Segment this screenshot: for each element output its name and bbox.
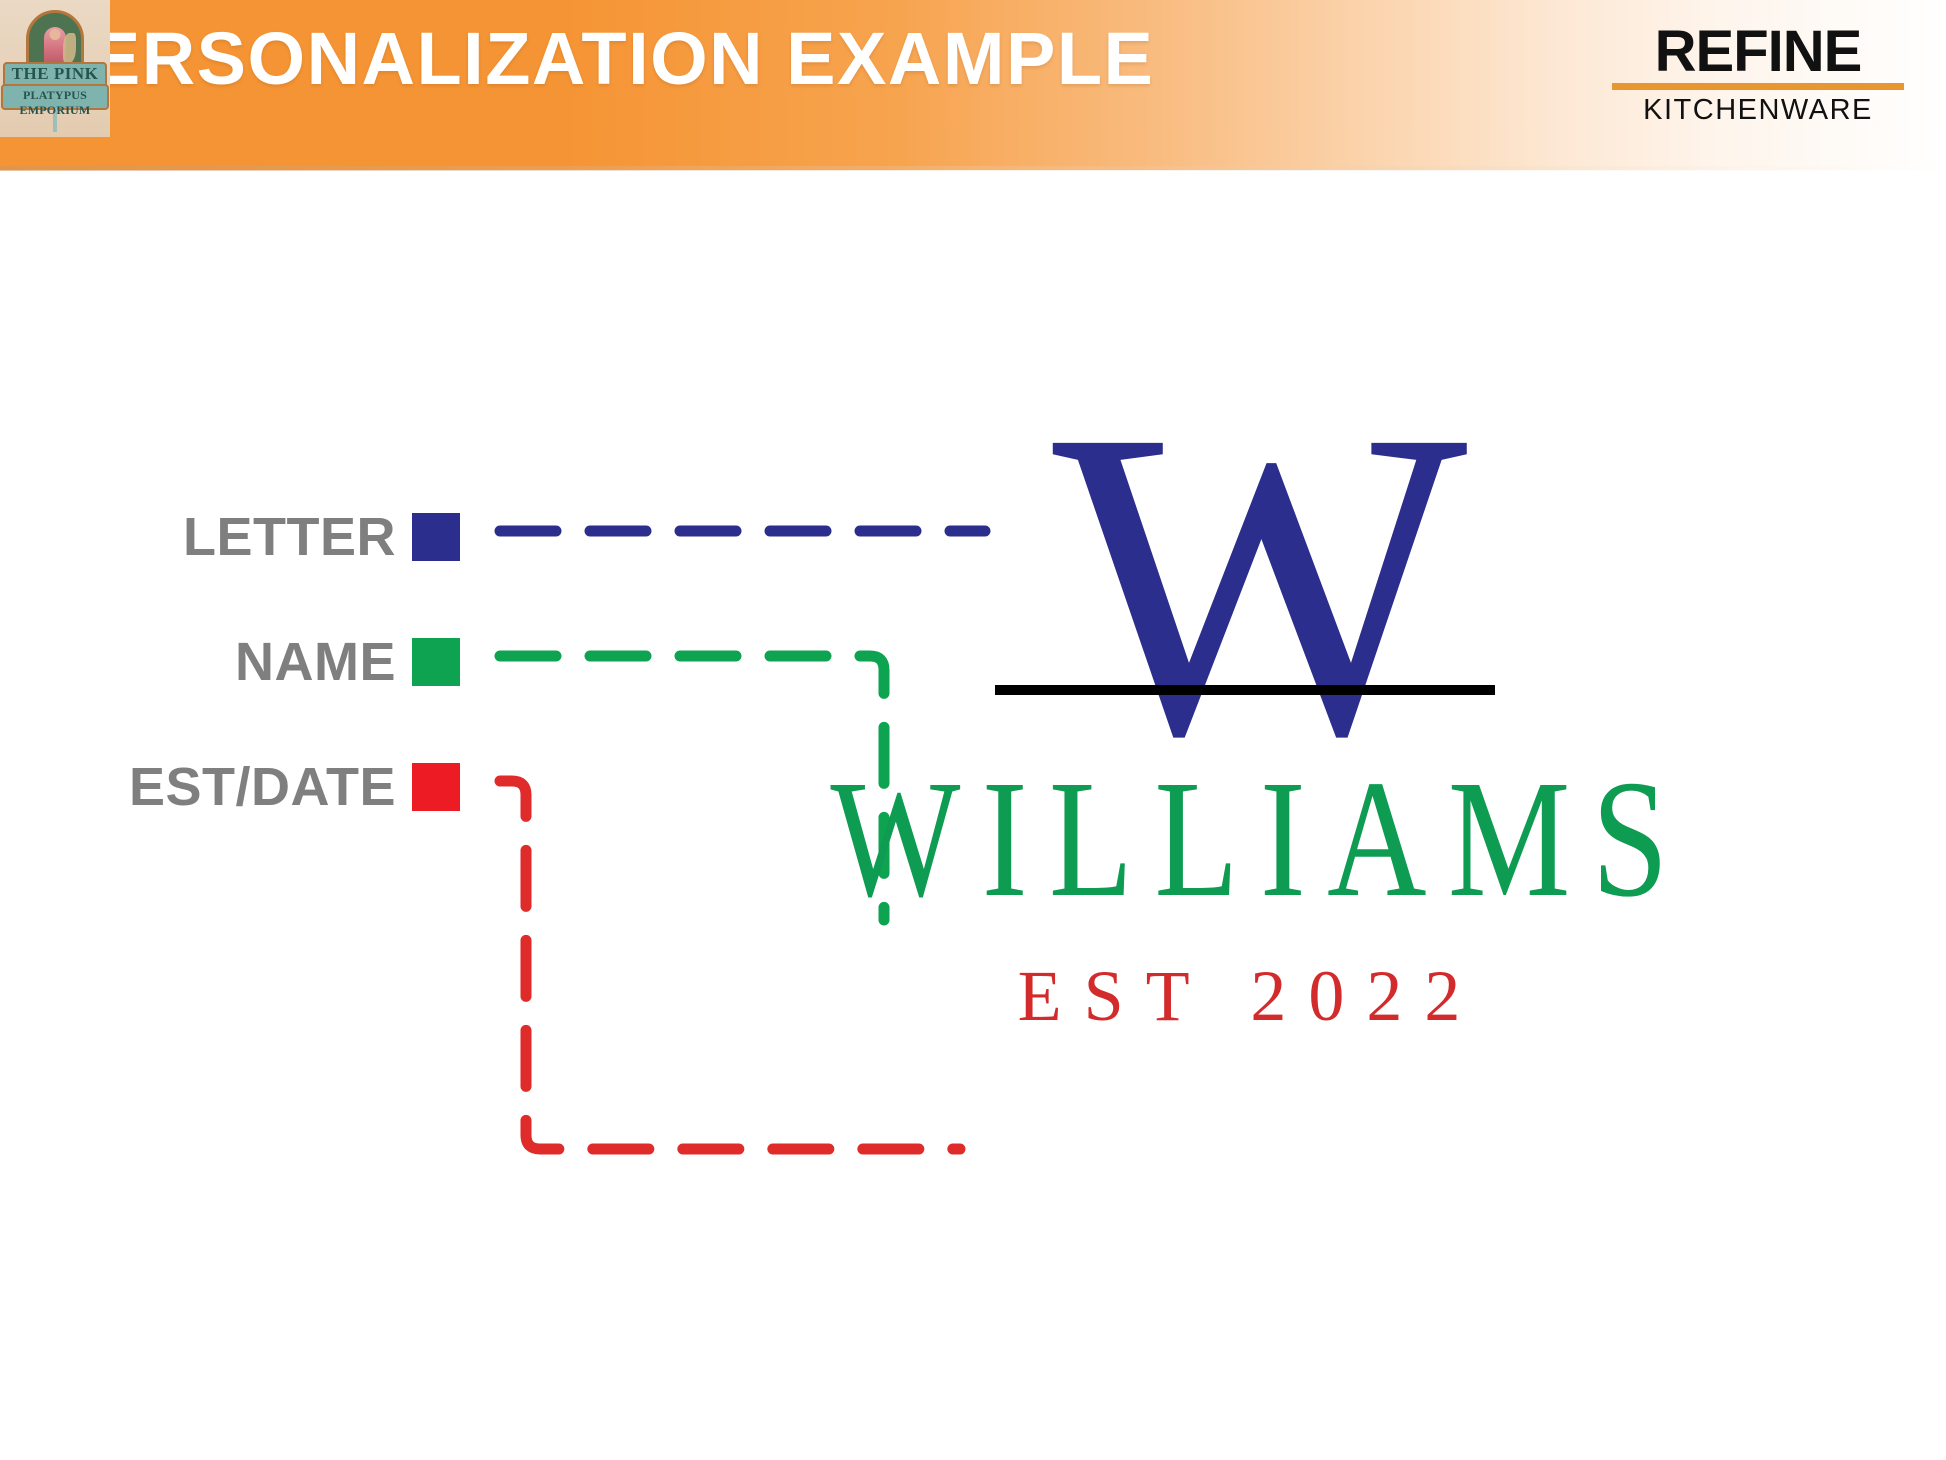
- monogram-letter: W: [600, 364, 1920, 804]
- shop-logo-text-top: THE PINK: [0, 64, 110, 84]
- shop-logo: THE PINK PLATYPUS EMPORIUM: [0, 0, 110, 137]
- name-swatch: [412, 638, 460, 686]
- shop-logo-wing-icon: [63, 33, 76, 63]
- estdate-swatch: [412, 763, 460, 811]
- legend-item-estdate: EST/DATE: [40, 756, 460, 818]
- legend-label-letter: LETTER: [183, 506, 396, 568]
- brand-subtitle: KITCHENWARE: [1612, 94, 1904, 127]
- page-title: PERSONALIZATION EXAMPLE: [40, 22, 1154, 96]
- monogram-established: EST 2022: [750, 960, 1750, 1032]
- letter-swatch: [412, 513, 460, 561]
- monogram-name: WILLIAMS: [645, 755, 1875, 923]
- shop-logo-text-bottom: PLATYPUS EMPORIUM: [0, 88, 110, 118]
- legend-item-letter: LETTER: [40, 506, 460, 568]
- legend-item-name: NAME: [40, 631, 460, 693]
- header-band-shadow: [0, 166, 1946, 171]
- legend-label-estdate: EST/DATE: [129, 756, 396, 818]
- monogram-divider-rule: [995, 685, 1495, 695]
- monogram-artwork: W WILLIAMS EST 2022: [600, 400, 1920, 1220]
- legend-label-name: NAME: [235, 631, 396, 693]
- brand-logo: REFINE KITCHENWARE: [1612, 24, 1904, 127]
- brand-name: REFINE: [1612, 24, 1904, 80]
